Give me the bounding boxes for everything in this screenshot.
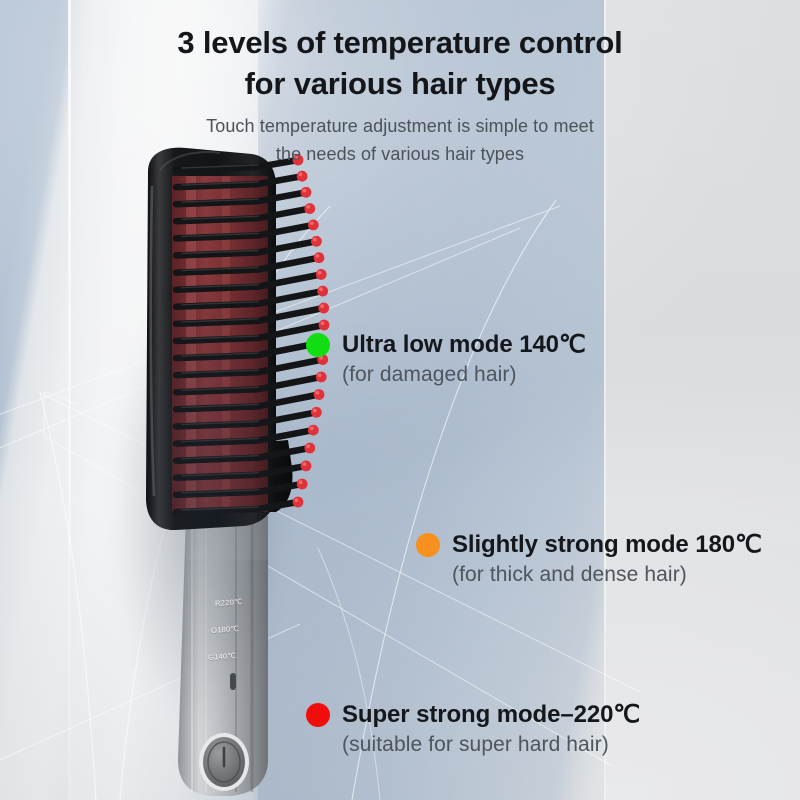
feature-subtitle: (suitable for super hard hair) xyxy=(342,733,640,757)
subheadline: Touch temperature adjustment is simple t… xyxy=(0,113,800,169)
headline-line-2: for various hair types xyxy=(0,63,800,104)
subheadline-line-2: the needs of various hair types xyxy=(0,141,800,169)
feature-title: Super strong mode–220℃ xyxy=(342,700,640,729)
feature-title: Slightly strong mode 180℃ xyxy=(452,530,762,559)
bullet-dot-green xyxy=(306,333,330,357)
headline-line-1: 3 levels of temperature control xyxy=(0,22,800,63)
subheadline-line-1: Touch temperature adjustment is simple t… xyxy=(0,113,800,141)
feature-bullet-super-strong: Super strong mode–220℃ (suitable for sup… xyxy=(306,700,640,757)
feature-bullet-ultra-low: Ultra low mode 140℃ (for damaged hair) xyxy=(306,330,586,387)
product-feature-image: R220℃ O180℃ G140℃ 3 levels of temperatur… xyxy=(0,0,800,800)
feature-subtitle: (for damaged hair) xyxy=(342,363,586,387)
feature-title: Ultra low mode 140℃ xyxy=(342,330,586,359)
feature-subtitle: (for thick and dense hair) xyxy=(452,563,762,587)
bullet-dot-orange xyxy=(416,533,440,557)
bullet-dot-red xyxy=(306,703,330,727)
headline: 3 levels of temperature control for vari… xyxy=(0,22,800,104)
feature-bullet-slightly-strong: Slightly strong mode 180℃ (for thick and… xyxy=(416,530,762,587)
